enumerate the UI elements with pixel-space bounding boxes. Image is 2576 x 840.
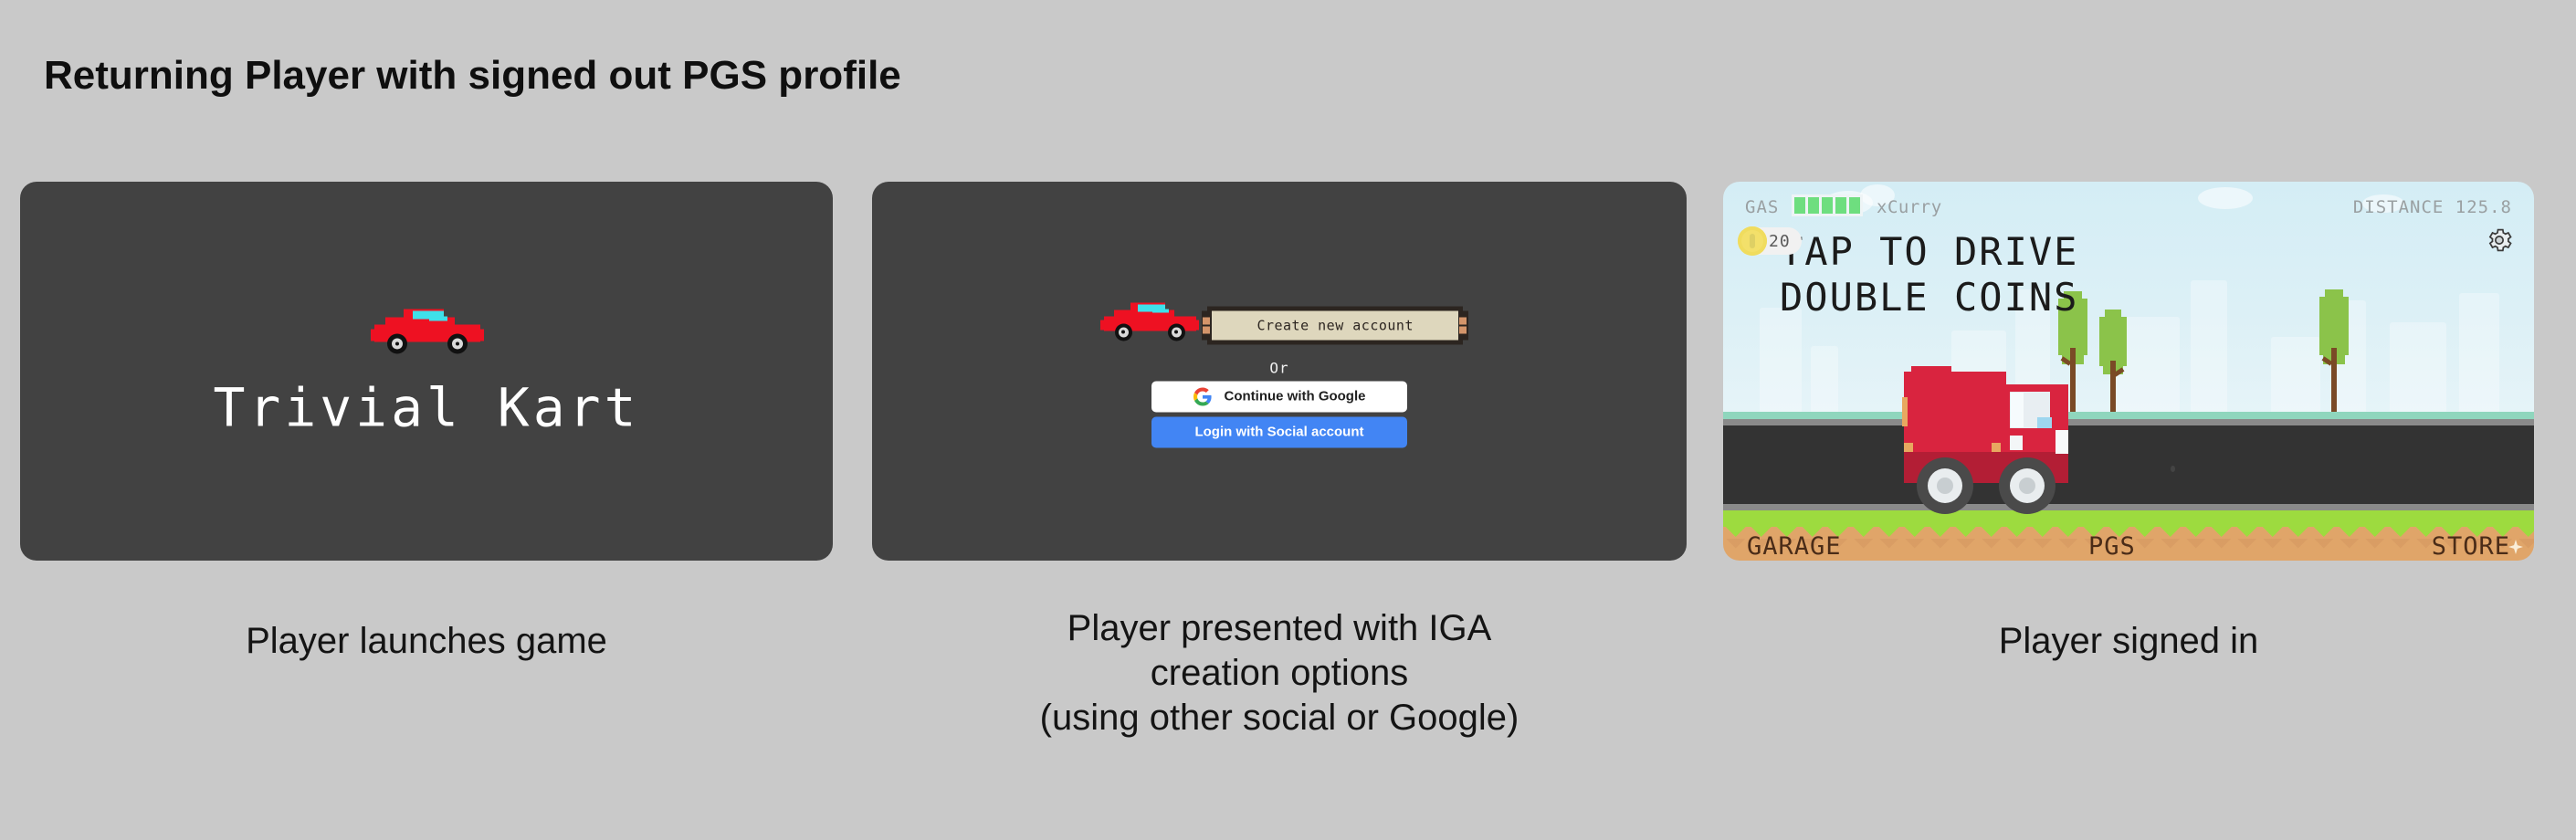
cap-stud: [1203, 326, 1210, 333]
player-truck: [1902, 364, 2071, 515]
grass-horizon-strip: [1723, 412, 2534, 419]
caption-line: (using other social or Google): [872, 696, 1687, 740]
button-right-cap: [1458, 310, 1468, 340]
panel-game-splash: Trivial Kart: [20, 182, 833, 561]
continue-with-google-label: Continue with Google: [1225, 389, 1366, 404]
cap-stud: [1459, 317, 1467, 324]
car-name-label: xCurry: [1877, 197, 1942, 217]
caption-line: Player signed in: [1723, 619, 2534, 664]
create-new-account-button[interactable]: Create new account: [1207, 306, 1463, 344]
create-new-account-label: Create new account: [1212, 317, 1458, 333]
button-left-cap: [1202, 310, 1212, 340]
cap-stud: [1459, 326, 1467, 333]
building-shape: [1760, 308, 1802, 417]
gas-segment: [1849, 197, 1860, 214]
gas-segment: [1822, 197, 1835, 214]
coin-icon: [1738, 226, 1767, 256]
google-g-icon: [1193, 387, 1212, 405]
caption-panel-3: Player signed in: [1723, 619, 2534, 664]
building-shape: [1811, 346, 1838, 417]
distance-readout: DISTANCE 125.8: [2353, 197, 2512, 217]
tree-icon: [2319, 289, 2349, 415]
gas-label: GAS: [1745, 197, 1779, 217]
page-title: Returning Player with signed out PGS pro…: [44, 53, 901, 99]
gas-meter: [1792, 194, 1863, 216]
game-headline: TAP TO DRIVE DOUBLE COINS: [1780, 229, 2078, 320]
iga-content: Create new account Or Continue with Goog…: [872, 295, 1687, 447]
nav-label-group: GARAGE PGS STORE: [1723, 532, 2534, 560]
building-shape: [2390, 322, 2446, 417]
caption-line: Player presented with IGA: [872, 606, 1687, 651]
caption-line: Player launches game: [20, 619, 833, 664]
distance-label: DISTANCE: [2353, 197, 2455, 217]
login-with-social-account-label: Login with Social account: [1194, 425, 1363, 440]
building-shape: [2271, 337, 2320, 417]
or-divider-label: Or: [872, 359, 1687, 376]
building-shape: [2191, 280, 2227, 417]
caption-panel-2: Player presented with IGA creation optio…: [872, 606, 1687, 740]
headline-line-1: TAP TO DRIVE: [1780, 229, 2078, 275]
nav-item-pgs[interactable]: PGS: [2088, 532, 2136, 561]
coin-badge[interactable]: 20: [1738, 226, 1802, 257]
headline-line-2: DOUBLE COINS: [1780, 275, 2078, 320]
pixel-car-icon: [365, 304, 489, 359]
caption-line: creation options: [872, 651, 1687, 696]
continue-with-google-button[interactable]: Continue with Google: [1151, 381, 1407, 412]
splash-content: Trivial Kart: [20, 304, 833, 438]
gear-icon[interactable]: [2485, 226, 2514, 255]
caption-panel-1: Player launches game: [20, 619, 833, 664]
game-title-text: Trivial Kart: [20, 376, 833, 438]
distance-value: 125.8: [2455, 197, 2512, 217]
cap-stud: [1203, 317, 1210, 324]
gas-segment: [1808, 197, 1822, 214]
hud-top-row: GAS xCurry DISTANCE 125.8: [1723, 194, 2534, 218]
pixel-car-icon: [1096, 299, 1204, 344]
road-edge-top: [1723, 419, 2534, 425]
tree-icon: [2099, 310, 2127, 415]
gas-segment: [1794, 197, 1808, 214]
gas-segment: [1835, 197, 1849, 214]
building-shape: [2459, 293, 2499, 417]
road-detail-dot: [2171, 466, 2175, 472]
bottom-nav-bar: GARAGE PGS STORE: [1723, 527, 2534, 561]
nav-item-garage[interactable]: GARAGE: [1747, 532, 1842, 561]
panel-iga-options: Create new account Or Continue with Goog…: [872, 182, 1687, 561]
panel-in-game: GAS xCurry DISTANCE 125.8 20 TAP TO DRIV…: [1723, 182, 2534, 561]
nav-item-store[interactable]: STORE: [2432, 532, 2510, 561]
road-surface: [1723, 425, 2534, 504]
road-edge-bottom: [1723, 504, 2534, 510]
login-with-social-account-button[interactable]: Login with Social account: [1151, 416, 1407, 447]
